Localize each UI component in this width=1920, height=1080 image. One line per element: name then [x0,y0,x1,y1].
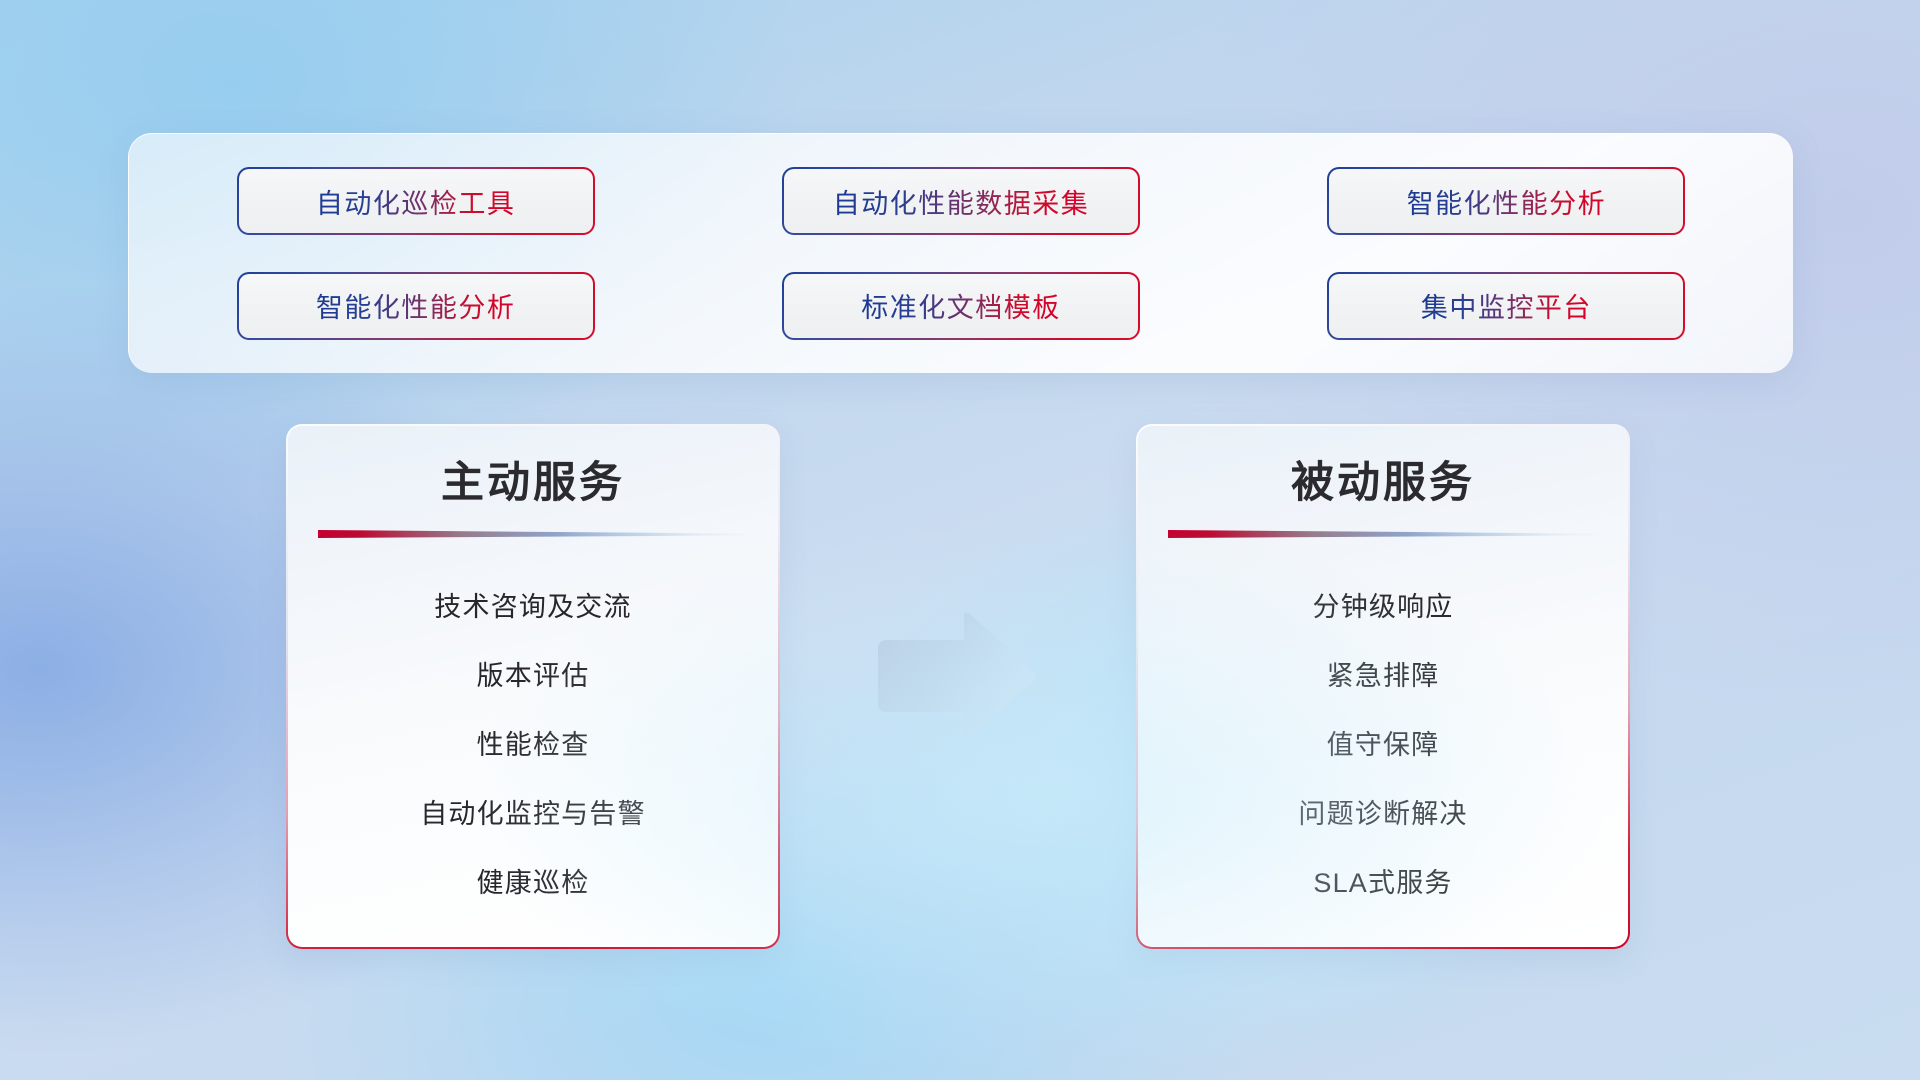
capability-pill-3[interactable]: 智能化性能分析 [1327,167,1685,235]
capability-pill-1[interactable]: 自动化巡检工具 [237,167,595,235]
service-card-proactive: 主动服务 [286,424,780,949]
capability-pill-6[interactable]: 集中监控平台 [1327,272,1685,340]
service-list-item: 性能检查 [477,711,590,780]
capability-pill-label: 自动化巡检工具 [316,182,516,221]
capability-pill-label: 自动化性能数据采集 [833,182,1090,221]
title-underline-rule [1168,529,1598,539]
capability-pill-label: 标准化文档模板 [861,286,1061,325]
title-underline-rule [318,529,748,539]
service-card-body: 主动服务 [288,426,778,947]
service-list-item: 问题诊断解决 [1298,780,1467,849]
capability-pill-body: 集中监控平台 [1329,274,1683,338]
capability-pill-body: 自动化性能数据采集 [784,169,1138,233]
service-list-item: 自动化监控与告警 [420,780,646,849]
capability-pill-body: 自动化巡检工具 [239,169,593,233]
capability-pill-5[interactable]: 标准化文档模板 [782,272,1140,340]
service-list-item: 技术咨询及交流 [434,573,631,642]
capability-pill-body: 智能化性能分析 [239,274,593,338]
service-card-body: 被动服务 [1138,426,1628,947]
service-card-title: 主动服务 [441,458,625,510]
flow-arrow-right-icon [872,611,1040,741]
capability-pill-body: 智能化性能分析 [1329,169,1683,233]
service-item-list: 技术咨询及交流 版本评估 性能检查 自动化监控与告警 健康巡检 [314,573,752,918]
service-card-title: 被动服务 [1291,458,1475,510]
slide-canvas: 自动化巡检工具 自动化性能数据采集 智能化性能分析 智能化性能分析 标准化文档模… [0,0,1920,1080]
capability-panel: 自动化巡检工具 自动化性能数据采集 智能化性能分析 智能化性能分析 标准化文档模… [128,133,1793,373]
service-list-item: 值守保障 [1327,711,1440,780]
service-card-reactive: 被动服务 [1136,424,1630,949]
capability-pill-label: 智能化性能分析 [316,286,516,325]
capability-pill-4[interactable]: 智能化性能分析 [237,272,595,340]
capability-pill-2[interactable]: 自动化性能数据采集 [782,167,1140,235]
service-list-item: 分钟级响应 [1313,573,1454,642]
service-list-item: 版本评估 [477,642,590,711]
service-item-list: 分钟级响应 紧急排障 值守保障 问题诊断解决 SLA式服务 [1164,573,1602,918]
capability-pill-label: 智能化性能分析 [1407,182,1607,221]
service-list-item: SLA式服务 [1313,849,1452,918]
capability-pill-label: 集中监控平台 [1421,286,1592,325]
capability-pill-body: 标准化文档模板 [784,274,1138,338]
service-list-item: 健康巡检 [477,849,590,918]
service-list-item: 紧急排障 [1327,642,1440,711]
